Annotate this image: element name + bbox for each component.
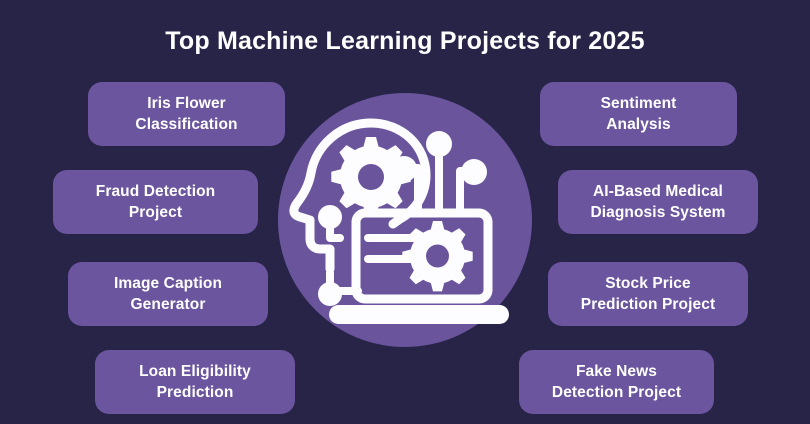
machine-learning-ai-illustration bbox=[278, 93, 532, 347]
project-pill-loan-eligibility-prediction[interactable]: Loan Eligibility Prediction bbox=[95, 350, 295, 414]
project-pill-sentiment-analysis[interactable]: Sentiment Analysis bbox=[540, 82, 737, 146]
page-title: Top Machine Learning Projects for 2025 bbox=[0, 26, 810, 56]
project-label: Iris Flower Classification bbox=[135, 93, 237, 135]
project-label: Loan Eligibility Prediction bbox=[139, 361, 251, 403]
laptop-base-icon bbox=[329, 305, 509, 324]
project-pill-ai-based-medical-diagnosis-system[interactable]: AI-Based Medical Diagnosis System bbox=[558, 170, 758, 234]
project-pill-iris-flower-classification[interactable]: Iris Flower Classification bbox=[88, 82, 285, 146]
project-label: AI-Based Medical Diagnosis System bbox=[590, 181, 725, 223]
project-pill-fake-news-detection-project[interactable]: Fake News Detection Project bbox=[519, 350, 714, 414]
project-pill-image-caption-generator[interactable]: Image Caption Generator bbox=[68, 262, 268, 326]
project-label: Image Caption Generator bbox=[114, 273, 222, 315]
circuit-traces-top-icon bbox=[409, 148, 469, 213]
project-label: Fraud Detection Project bbox=[96, 181, 215, 223]
laptop-gear-icon bbox=[402, 221, 472, 291]
project-pill-stock-price-prediction-project[interactable]: Stock Price Prediction Project bbox=[548, 262, 748, 326]
project-label: Fake News Detection Project bbox=[552, 361, 681, 403]
project-pill-fraud-detection-project[interactable]: Fraud Detection Project bbox=[53, 170, 258, 234]
infographic-canvas: Top Machine Learning Projects for 2025 bbox=[0, 0, 810, 424]
project-label: Stock Price Prediction Project bbox=[581, 273, 715, 315]
project-label: Sentiment Analysis bbox=[601, 93, 677, 135]
illustration-artwork bbox=[278, 93, 532, 347]
